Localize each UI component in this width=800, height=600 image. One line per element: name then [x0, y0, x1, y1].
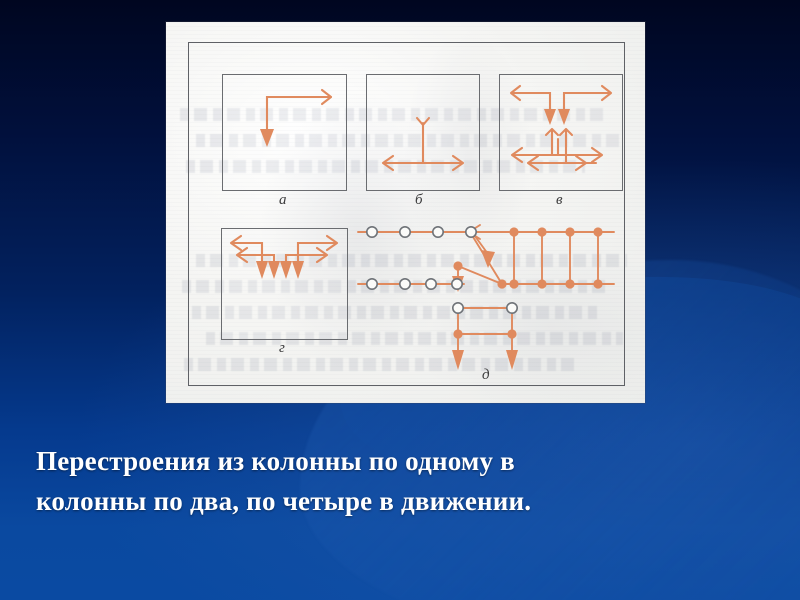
panel-v	[499, 74, 623, 191]
panel-v-diagram	[500, 75, 622, 190]
panel-b-label: б	[415, 192, 423, 209]
panel-v-label: в	[556, 192, 563, 209]
panel-a-diagram	[223, 75, 346, 190]
panel-d-label: д	[482, 367, 490, 384]
panel-d	[352, 218, 627, 378]
panel-g-diagram	[222, 229, 347, 339]
panel-a-label: а	[279, 192, 287, 209]
arrowhead-down	[268, 261, 280, 279]
arrowhead-down	[481, 250, 495, 268]
arrowhead-down	[506, 350, 518, 370]
panel-b	[366, 74, 480, 191]
arrowhead-down	[544, 109, 556, 125]
arrowhead-up	[417, 118, 429, 125]
arrowhead-down	[558, 109, 570, 125]
arrowhead-down	[452, 350, 464, 370]
panel-d-diagram	[352, 218, 627, 378]
arrowhead-down	[292, 261, 304, 279]
slide-canvas: а б	[0, 0, 800, 600]
panel-a	[222, 74, 347, 191]
slide-caption: Перестроения из колонны по одному в коло…	[36, 441, 766, 521]
marker-hollow-group	[367, 227, 517, 313]
panel-b-diagram	[367, 75, 479, 190]
caption-line-1: Перестроения из колонны по одному в	[36, 441, 766, 481]
panel-g-label: г	[279, 340, 285, 357]
figure-image: а б	[166, 22, 645, 403]
caption-line-2: колонны по два, по четыре в движении.	[36, 481, 766, 521]
arrowhead-down	[260, 129, 274, 147]
arrowhead-down	[280, 261, 292, 279]
marker-filled-group	[453, 227, 602, 338]
panel-g	[221, 228, 348, 340]
arrowhead-down	[256, 261, 268, 279]
